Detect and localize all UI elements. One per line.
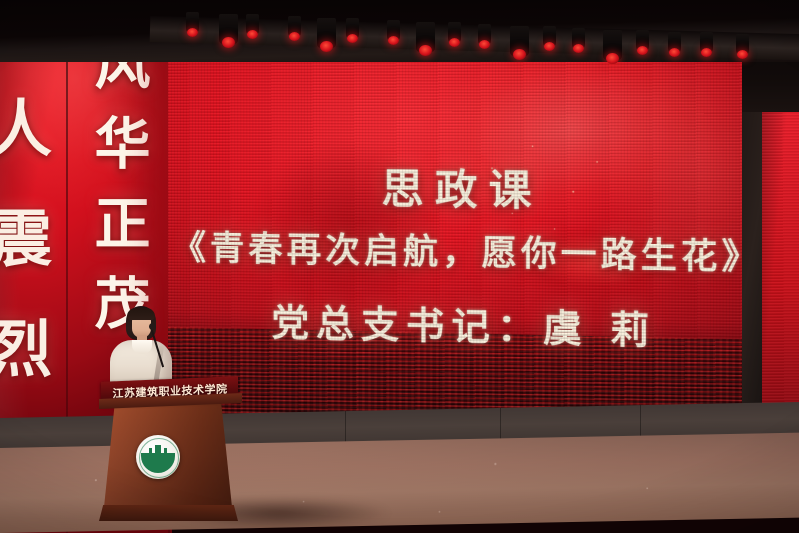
right-red-panel — [762, 108, 799, 426]
stage-light-icon — [543, 26, 556, 47]
stage-light-icon — [416, 22, 435, 52]
stage-light-icon — [448, 22, 461, 43]
speaker-fringe — [127, 308, 155, 320]
stage-light-icon — [346, 18, 359, 39]
stage-light-icon — [700, 32, 713, 53]
stage-light-icon — [478, 24, 491, 45]
stage-light-icon — [387, 20, 400, 41]
stage-light-icon — [636, 30, 649, 51]
stage-light-icon — [736, 34, 749, 55]
stage-light-icon — [288, 16, 301, 37]
right-panel-scanlines — [762, 108, 799, 426]
emblem-bar-left — [149, 448, 152, 466]
stage-photo: 人震烈 风华正茂 思政课 《青春再次启航，愿你一路生花》 党总支书记：虞 莉 — [0, 0, 799, 533]
stage-light-icon — [668, 32, 681, 53]
stage-light-icon — [572, 28, 585, 49]
led-title: 思政课 — [168, 152, 767, 221]
podium-base — [99, 505, 238, 521]
stage-light-icon — [317, 18, 336, 48]
microphone-head-icon — [149, 323, 156, 330]
stage-light-icon — [603, 30, 622, 60]
emblem-bar-right — [164, 448, 167, 466]
stage-light-icon — [246, 14, 259, 35]
stage-light-icon — [219, 14, 238, 44]
stage-light-icon — [186, 12, 199, 33]
school-emblem-icon — [136, 435, 180, 479]
stage-light-icon — [510, 26, 529, 56]
emblem-bar-center — [155, 445, 161, 467]
led-video-wall: 思政课 《青春再次启航，愿你一路生花》 党总支书记：虞 莉 — [168, 44, 767, 443]
banner-column-edge: 人震烈 — [0, 96, 60, 426]
